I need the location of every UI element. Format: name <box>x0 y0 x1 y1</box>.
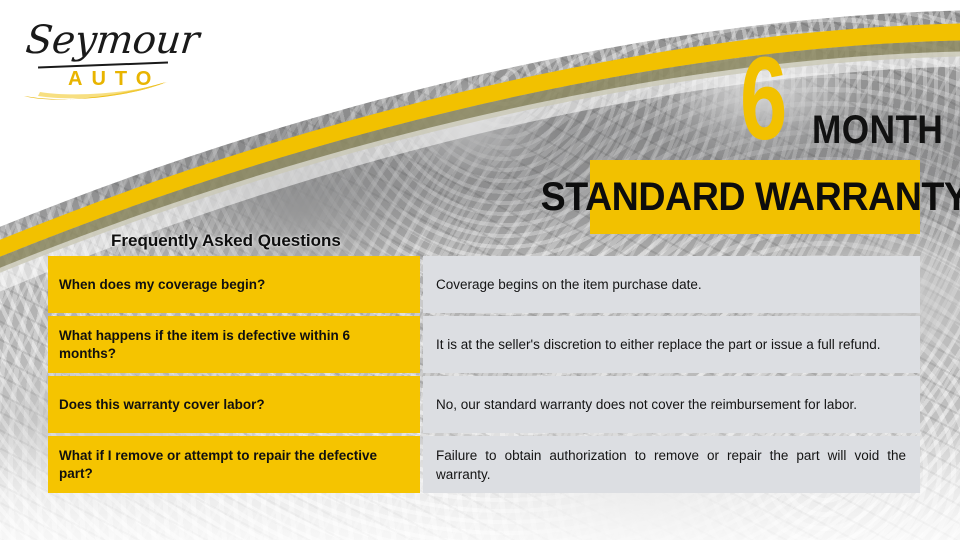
table-row: Does this warranty cover labor? No, our … <box>48 376 920 433</box>
standard-warranty-banner: STANDARD WARRANTY <box>590 160 920 234</box>
faq-answer-cell: It is at the seller's discretion to eith… <box>423 316 920 373</box>
duration-number: 6 <box>740 40 786 158</box>
table-row: What happens if the item is defective wi… <box>48 316 920 373</box>
faq-answer-text: No, our standard warranty does not cover… <box>436 395 906 414</box>
warranty-duration-block: 6 MONTH <box>740 48 930 160</box>
faq-answer-text: Failure to obtain authorization to remov… <box>436 446 906 484</box>
faq-answer-text: It is at the seller's discretion to eith… <box>436 335 906 354</box>
faq-question-text: Does this warranty cover labor? <box>59 396 265 414</box>
duration-unit: MONTH <box>812 110 943 150</box>
faq-question-text: What if I remove or attempt to repair th… <box>59 447 409 483</box>
faq-question-cell: What if I remove or attempt to repair th… <box>48 436 420 493</box>
logo-auto-label: AUTO <box>68 68 160 91</box>
faq-heading: Frequently Asked Questions <box>111 231 341 251</box>
brand-logo[interactable]: Seymour AUTO <box>16 12 191 104</box>
faq-answer-text: Coverage begins on the item purchase dat… <box>436 275 906 294</box>
faq-question-text: What happens if the item is defective wi… <box>59 327 409 363</box>
faq-question-cell: Does this warranty cover labor? <box>48 376 420 433</box>
table-row: What if I remove or attempt to repair th… <box>48 436 920 493</box>
faq-answer-cell: No, our standard warranty does not cover… <box>423 376 920 433</box>
faq-question-cell: When does my coverage begin? <box>48 256 420 313</box>
faq-question-cell: What happens if the item is defective wi… <box>48 316 420 373</box>
faq-question-text: When does my coverage begin? <box>59 276 265 294</box>
faq-table: When does my coverage begin? Coverage be… <box>48 256 920 493</box>
faq-answer-cell: Coverage begins on the item purchase dat… <box>423 256 920 313</box>
standard-warranty-label: STANDARD WARRANTY <box>541 177 960 217</box>
table-row: When does my coverage begin? Coverage be… <box>48 256 920 313</box>
faq-answer-cell: Failure to obtain authorization to remov… <box>423 436 920 493</box>
warranty-faq-slide: Seymour AUTO 6 MONTH STANDARD WARRANTY F… <box>0 0 960 540</box>
